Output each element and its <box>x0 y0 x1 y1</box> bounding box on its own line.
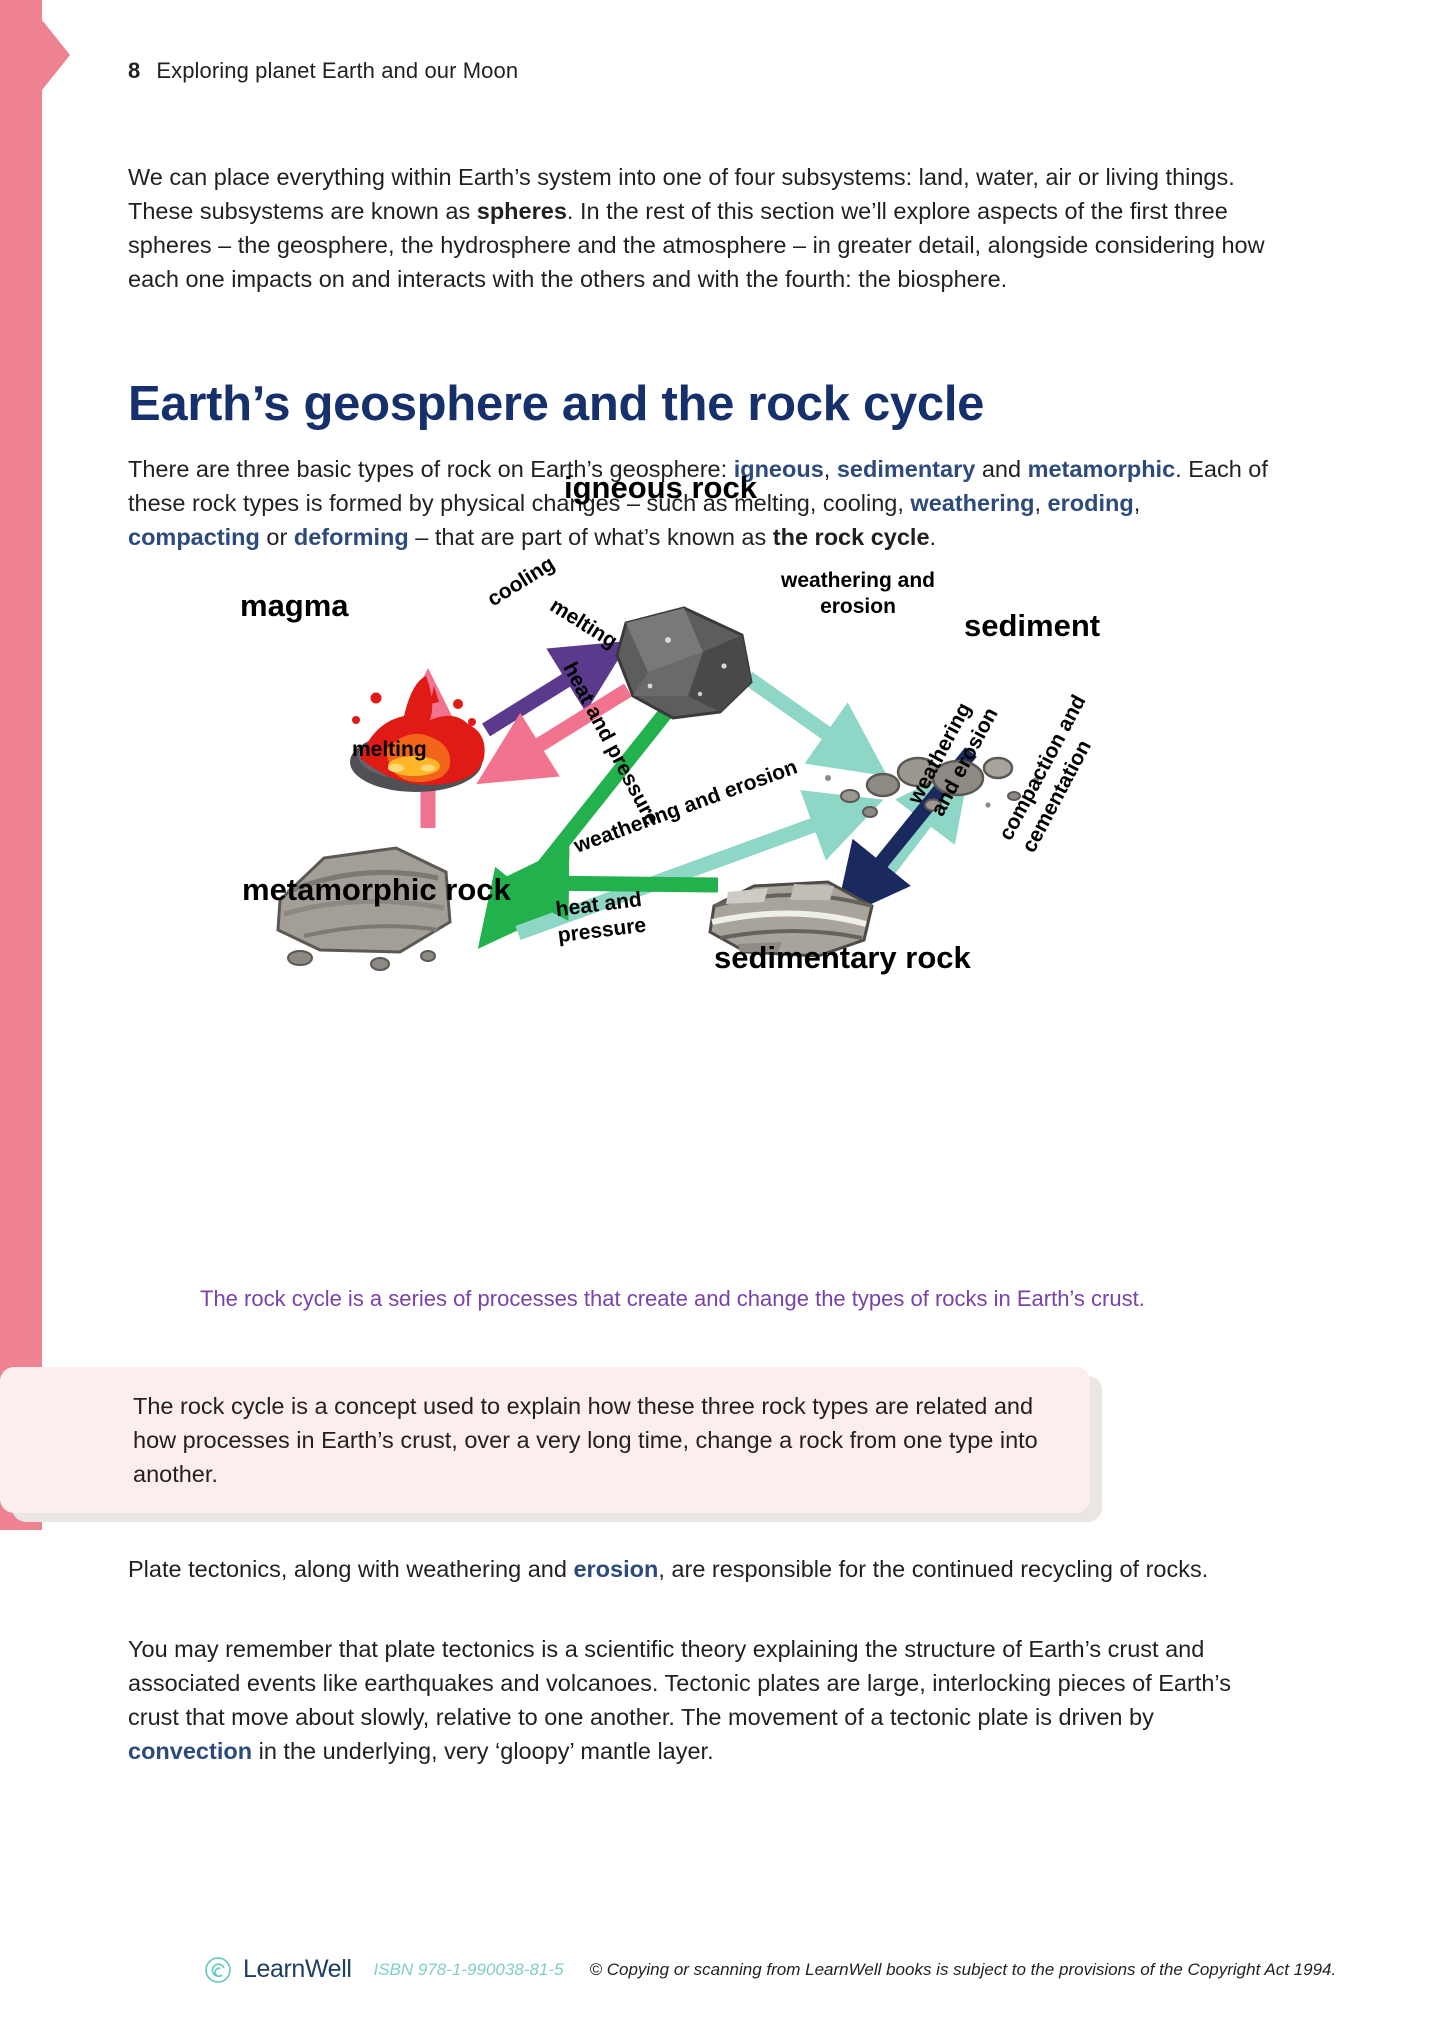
copyright-text: © Copying or scanning from LearnWell boo… <box>589 1960 1336 1980</box>
isbn-text: ISBN 978-1-990038-81-5 <box>374 1960 564 1980</box>
tp-2: in the underlying, very ‘gloopy’ mantle … <box>252 1738 714 1764</box>
plate-tectonics-paragraph: Plate tectonics, along with weathering a… <box>128 1552 1273 1586</box>
term-convection: convection <box>128 1738 252 1764</box>
rp-8: – that are part of what’s known as <box>409 524 773 550</box>
label-melting-left: melting <box>352 738 427 762</box>
learnwell-wordmark: LearnWell <box>243 1955 352 1984</box>
page-footer: LearnWell ISBN 978-1-990038-81-5 © Copyi… <box>205 1955 1336 1984</box>
label-heat-pressure-bottom: heat and pressure <box>553 887 647 949</box>
pp-1: Plate tectonics, along with weathering a… <box>128 1556 573 1582</box>
term-eroding: eroding <box>1048 490 1134 516</box>
textbook-page: 8Exploring planet Earth and our Moon We … <box>0 0 1445 2041</box>
learnwell-spiral-icon <box>205 1957 231 1983</box>
rock-cycle-diagram: igneous rock magma sediment metamorphic … <box>128 600 1288 1280</box>
we-top-line1: weathering and <box>768 568 948 594</box>
term-sedimentary: sedimentary <box>837 456 975 482</box>
term-deforming: deforming <box>294 524 409 550</box>
term-erosion: erosion <box>573 1556 658 1582</box>
rp-5: , <box>1034 490 1047 516</box>
figure-caption: The rock cycle is a series of processes … <box>200 1283 1200 1314</box>
rp-2: , <box>824 456 837 482</box>
rp-6: , <box>1134 490 1141 516</box>
pp-2: , are responsible for the continued recy… <box>658 1556 1208 1582</box>
term-compacting: compacting <box>128 524 260 550</box>
intro-paragraph: We can place everything within Earth’s s… <box>128 160 1273 296</box>
term-weathering: weathering <box>910 490 1034 516</box>
arrow-heat-pressure-bottom <box>536 883 718 885</box>
label-metamorphic-rock: metamorphic rock <box>242 872 511 908</box>
label-sediment: sediment <box>964 608 1100 644</box>
running-head-title: Exploring planet Earth and our Moon <box>156 58 518 83</box>
term-metamorphic: metamorphic <box>1028 456 1176 482</box>
tp-1: You may remember that plate tectonics is… <box>128 1636 1231 1730</box>
term-rock-cycle: the rock cycle <box>773 524 930 550</box>
page-edge-tab <box>42 20 70 90</box>
label-magma: magma <box>240 588 349 624</box>
arrow-weathering-erosion-top <box>748 678 853 752</box>
intro-bold-spheres: spheres <box>477 198 567 224</box>
igneous-rock-illustration <box>617 608 751 718</box>
tectonics-paragraph: You may remember that plate tectonics is… <box>128 1632 1273 1768</box>
page-edge-bar <box>0 0 42 1530</box>
we-top-line2: erosion <box>768 594 948 620</box>
label-sedimentary-rock: sedimentary rock <box>714 940 971 976</box>
page-number: 8 <box>128 58 140 83</box>
magma-illustration <box>350 676 485 792</box>
label-igneous-rock: igneous rock <box>564 470 757 506</box>
metamorphic-rock-illustration <box>278 848 450 970</box>
running-head: 8Exploring planet Earth and our Moon <box>128 58 518 84</box>
section-heading: Earth’s geosphere and the rock cycle <box>128 375 984 433</box>
rp-3: and <box>975 456 1027 482</box>
rp-7: or <box>260 524 294 550</box>
label-weathering-erosion-top: weathering and erosion <box>768 568 948 620</box>
rp-9: . <box>930 524 937 550</box>
definition-callout: The rock cycle is a concept used to expl… <box>0 1367 1090 1513</box>
callout-text: The rock cycle is a concept used to expl… <box>133 1389 1063 1491</box>
